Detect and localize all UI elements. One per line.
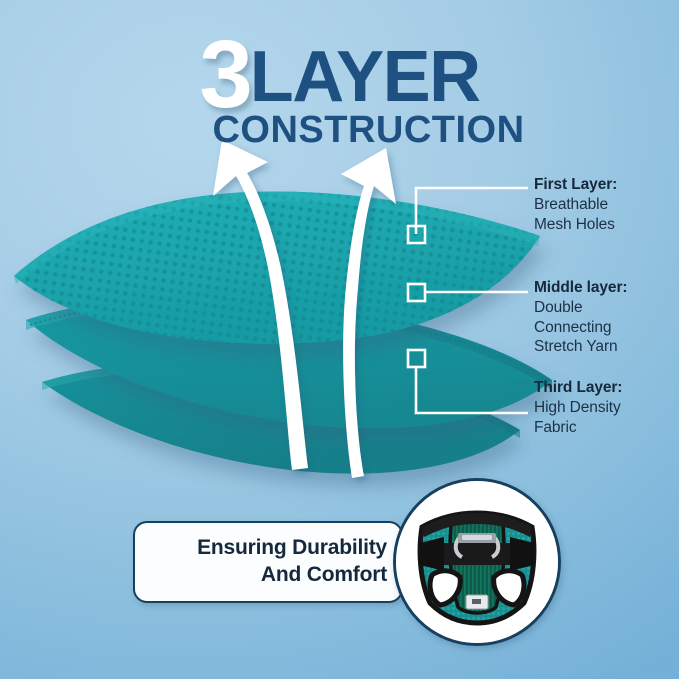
- tagline-text: Ensuring Durability And Comfort: [135, 535, 401, 589]
- callout-middle-layer: Middle layer: DoubleConnectingStretch Ya…: [534, 278, 679, 357]
- product-photo-circle: [393, 478, 561, 646]
- callout-body: BreathableMesh Holes: [534, 195, 679, 235]
- callout-heading: Third Layer:: [534, 378, 679, 398]
- callout-third-layer: Third Layer: High DensityFabric: [534, 378, 679, 437]
- callout-body: DoubleConnectingStretch Yarn: [534, 298, 679, 357]
- callout-heading: Middle layer:: [534, 278, 679, 298]
- callout-heading: First Layer:: [534, 175, 679, 195]
- tagline-banner: Ensuring Durability And Comfort: [133, 521, 403, 603]
- tagline-line-2: And Comfort: [135, 562, 387, 589]
- infographic-canvas: 3LAYER CONSTRUCTION First Layer: Breatha…: [0, 0, 679, 679]
- callout-body: High DensityFabric: [534, 398, 679, 438]
- tagline-line-1: Ensuring Durability: [197, 536, 387, 559]
- callout-first-layer: First Layer: BreathableMesh Holes: [534, 175, 679, 234]
- dog-harness-photo: [396, 481, 558, 643]
